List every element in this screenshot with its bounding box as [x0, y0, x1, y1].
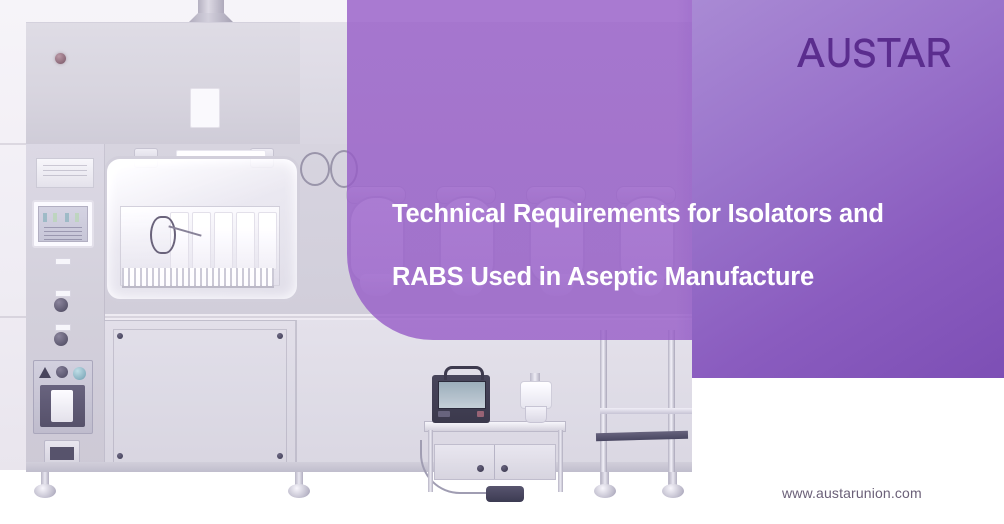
leveling-foot	[34, 472, 56, 498]
sterile-package	[258, 212, 277, 270]
website-url[interactable]: www.austarunion.com	[782, 485, 922, 501]
shelf-divider	[494, 445, 495, 479]
process-hose	[300, 152, 330, 186]
banner-title: Technical Requirements for Isolators and…	[392, 183, 958, 309]
marketing-banner: Technical Requirements for Isolators and…	[0, 0, 1004, 524]
door-bolt	[117, 453, 123, 459]
shelf-knob[interactable]	[477, 465, 484, 472]
door-inset	[113, 329, 287, 463]
machine-plinth	[26, 462, 692, 472]
door-bolt	[277, 333, 283, 339]
particle-counter-indicator	[477, 411, 484, 417]
shelf-knob[interactable]	[501, 465, 508, 472]
vial-rack	[122, 268, 274, 288]
cleanroom-floor	[0, 470, 692, 524]
switch-label-slot	[55, 290, 71, 297]
lamp-base	[525, 406, 547, 423]
lamp-head	[520, 381, 552, 409]
particle-counter	[432, 375, 490, 423]
instrument-table-shelf	[434, 444, 556, 480]
tubing-coil	[150, 216, 176, 254]
sterile-package	[214, 212, 233, 270]
emergency-stop-window[interactable]	[40, 385, 85, 427]
carry-handle	[444, 366, 484, 380]
table-leg	[558, 430, 563, 492]
inspection-lamp	[520, 373, 550, 421]
frame-rail	[600, 408, 692, 414]
selector-knob[interactable]	[54, 332, 68, 346]
sterile-package	[192, 212, 211, 270]
switch-label-slot	[55, 258, 71, 265]
foot-pedal[interactable]	[486, 486, 524, 502]
leveling-foot	[594, 472, 616, 498]
selector-knob[interactable]	[54, 298, 68, 312]
warning-triangle-icon	[39, 367, 51, 378]
upper-access-plate	[190, 88, 220, 128]
leveling-foot	[662, 472, 684, 498]
hmi-screen	[38, 206, 88, 242]
emergency-control-box[interactable]	[33, 360, 93, 434]
alarm-button[interactable]	[56, 366, 68, 378]
table-leg	[428, 430, 433, 492]
door-bolt	[277, 453, 283, 459]
machine-nameplate	[36, 158, 94, 188]
particle-counter-button[interactable]	[438, 411, 450, 417]
hmi-touchscreen[interactable]	[32, 200, 94, 248]
status-indicator-light	[55, 53, 66, 64]
banner-title-line-1: Technical Requirements for Isolators and	[392, 183, 958, 246]
particle-counter-screen	[438, 381, 486, 409]
reset-button[interactable]	[73, 367, 86, 380]
lower-access-door[interactable]	[104, 320, 296, 472]
sterile-package	[236, 212, 255, 270]
door-bolt	[117, 333, 123, 339]
switch-label-slot	[55, 324, 71, 331]
austar-logo[interactable]	[797, 36, 957, 70]
leveling-foot	[288, 472, 310, 498]
banner-title-line-2: RABS Used in Aseptic Manufacture	[392, 246, 958, 309]
